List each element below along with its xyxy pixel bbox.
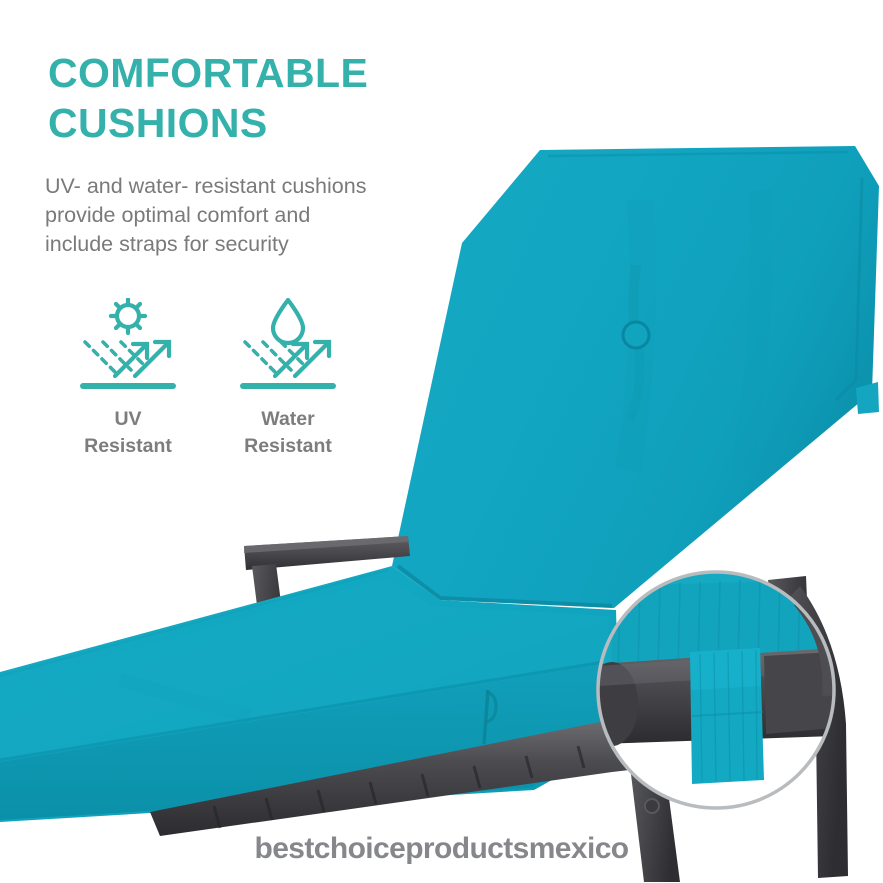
page-subtitle: UV- and water- resistant cushions provid… [45,172,485,260]
feature-uv-resistant: UV Resistant [48,298,208,459]
feature-label: Water Resistant [228,406,348,459]
feature-label: UV Resistant [68,406,188,459]
water-resistant-icon [233,298,343,390]
uv-resistant-icon [73,298,183,390]
strap-detail-inset [586,572,834,808]
feature-list: UV Resistant [48,298,378,459]
page-title: COMFORTABLE CUSHIONS [48,48,478,148]
feature-water-resistant: Water Resistant [208,298,368,459]
product-feature-image: COMFORTABLE CUSHIONS UV- and water- resi… [0,0,883,883]
